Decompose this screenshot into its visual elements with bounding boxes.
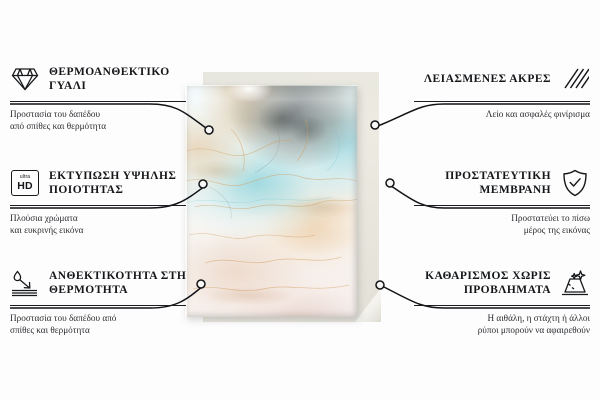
feature-divider xyxy=(414,205,590,206)
feature-high-quality-print: ultra HD ΕΚΤΥΠΩΣΗ ΥΨΗΛΗΣ ΠΟΙΟΤΗΤΑΣ Πλούσ… xyxy=(10,166,210,237)
feature-protective-membrane: ΠΡΟΣΤΑΤΕΥΤΙΚΗ ΜΕΜΒΡΑΝΗ Προστατεύει το πί… xyxy=(390,166,590,237)
feature-description: Προστατεύει το πίσω μέρος της εικόνας xyxy=(390,212,590,237)
feature-header: ΚΑΘΑΡΙΣΜΟΣ ΧΩΡΙΣ ΠΡΟΒΛΗΜΑΤΑ xyxy=(390,266,590,300)
feature-divider xyxy=(414,305,590,306)
feature-divider xyxy=(10,305,186,306)
feature-easy-cleaning: ΚΑΘΑΡΙΣΜΟΣ ΧΩΡΙΣ ΠΡΟΒΛΗΜΑΤΑ Η αιθάλη, η … xyxy=(390,266,590,337)
feature-heat-durability: ΑΝΘΕΚΤΙΚΟΤΗΤΑ ΣΤΗ ΘΕΡΜΟΤΗΤΑ Προστασία το… xyxy=(10,266,210,337)
connector-dot-right-1 xyxy=(371,121,379,129)
feature-heat-resistant-glass: ΘΕΡΜΟΑΝΘΕΚΤΙΚΟ ΓΥΑΛΙ Προστασία του δαπέδ… xyxy=(10,62,210,133)
connector-dot-right-3 xyxy=(376,281,384,289)
feature-title: ΑΝΘΕΚΤΙΚΟΤΗΤΑ ΣΤΗ ΘΕΡΜΟΤΗΤΑ xyxy=(49,269,210,297)
ultra-hd-badge: ultra HD xyxy=(11,170,39,196)
feature-title: ΛΕΙΑΣΜΕΝΕΣ ΑΚΡΕΣ xyxy=(390,72,551,86)
feature-header: ultra HD ΕΚΤΥΠΩΣΗ ΥΨΗΛΗΣ ΠΟΙΟΤΗΤΑΣ xyxy=(10,166,210,200)
polished-edges-icon xyxy=(560,64,590,94)
feature-header: ΑΝΘΕΚΤΙΚΟΤΗΤΑ ΣΤΗ ΘΕΡΜΟΤΗΤΑ xyxy=(10,266,210,300)
heat-resistance-icon xyxy=(10,268,40,298)
feature-title: ΚΑΘΑΡΙΣΜΟΣ ΧΩΡΙΣ ΠΡΟΒΛΗΜΑΤΑ xyxy=(390,269,551,297)
feature-divider xyxy=(10,101,186,102)
feature-description: Λείο και ασφαλές φινίρισμα xyxy=(390,108,590,120)
diamond-icon xyxy=(10,64,40,94)
feature-divider xyxy=(414,101,590,102)
feature-title: ΘΕΡΜΟΑΝΘΕΚΤΙΚΟ ΓΥΑΛΙ xyxy=(49,65,210,93)
feature-description: Προστασία του δαπέδου από σπίθες και θερ… xyxy=(10,108,210,133)
feature-description: Πλούσια χρώματα και ευκρινής εικόνα xyxy=(10,212,210,237)
infographic-canvas: ΘΕΡΜΟΑΝΘΕΚΤΙΚΟ ΓΥΑΛΙ Προστασία του δαπέδ… xyxy=(0,0,600,400)
ultra-hd-large-label: HD xyxy=(17,181,33,192)
ultra-hd-icon: ultra HD xyxy=(10,168,40,198)
feature-title: ΕΚΤΥΠΩΣΗ ΥΨΗΛΗΣ ΠΟΙΟΤΗΤΑΣ xyxy=(49,169,210,197)
feature-header: ΘΕΡΜΟΑΝΘΕΚΤΙΚΟ ΓΥΑΛΙ xyxy=(10,62,210,96)
shield-check-icon xyxy=(560,168,590,198)
feature-polished-edges: ΛΕΙΑΣΜΕΝΕΣ ΑΚΡΕΣ Λείο και ασφαλές φινίρι… xyxy=(390,62,590,120)
feature-header: ΛΕΙΑΣΜΕΝΕΣ ΑΚΡΕΣ xyxy=(390,62,590,96)
feature-header: ΠΡΟΣΤΑΤΕΥΤΙΚΗ ΜΕΜΒΡΑΝΗ xyxy=(390,166,590,200)
easy-clean-sparkle-icon xyxy=(560,268,590,298)
feature-divider xyxy=(10,205,186,206)
feature-title: ΠΡΟΣΤΑΤΕΥΤΙΚΗ ΜΕΜΒΡΑΝΗ xyxy=(390,169,551,197)
feature-description: Η αιθάλη, η στάχτη ή άλλοι ρύποι μπορούν… xyxy=(390,312,590,337)
feature-description: Προστασία του δαπέδου από σπίθες και θερ… xyxy=(10,312,210,337)
